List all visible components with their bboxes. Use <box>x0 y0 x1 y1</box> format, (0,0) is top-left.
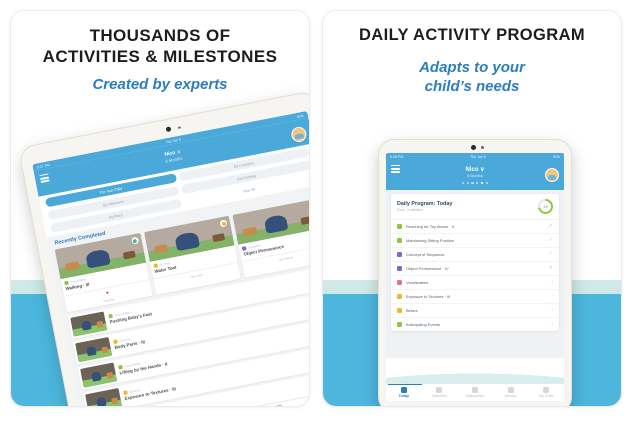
chevron-right-icon: › <box>551 308 553 313</box>
program-row-label: Reaching for Toy Above · II <box>406 224 545 229</box>
articles-icon <box>276 404 283 407</box>
tab-articles[interactable]: Articles <box>493 384 529 401</box>
activities-icon <box>436 387 442 393</box>
tablet-screen-left: 3:27 PM Thu Jan 9 85% Nico ∨ 6 Months <box>32 111 310 407</box>
check-icon: ✓ <box>549 252 553 257</box>
left-card-headings: THOUSANDS OF ACTIVITIES & MILESTONES Cre… <box>11 25 309 94</box>
right-subheading-line2: child’s needs <box>323 77 621 96</box>
camera-icon <box>471 145 476 150</box>
right-heading-line1: DAILY ACTIVITY PROGRAM <box>323 25 621 46</box>
leaf-icon <box>397 238 402 243</box>
camera-icon <box>166 126 172 132</box>
status-battery: 90% <box>553 155 560 159</box>
child-name-selector[interactable]: Nico ∨ <box>386 160 564 173</box>
program-row-label: Exposure to Textures · III <box>406 294 547 299</box>
today-icon <box>401 387 407 393</box>
tab-label: My Child <box>307 396 310 407</box>
promo-card-thousands: THOUSANDS OF ACTIVITIES & MILESTONES Cre… <box>10 10 310 407</box>
check-icon: ✓ <box>549 266 553 271</box>
status-battery: 85% <box>296 113 304 118</box>
child-name: Nico <box>465 167 478 173</box>
brain-icon <box>397 252 402 257</box>
chevron-right-icon: › <box>551 280 553 285</box>
hamburger-menu-icon[interactable] <box>39 173 50 184</box>
tablet-screen-right: 9:28 PM Thu Jan 9 90% Nico ∨ 6 Months <box>386 153 564 401</box>
favorite-label: The Official <box>278 255 294 262</box>
list-thumbnail <box>75 336 112 361</box>
list-thumbnail <box>70 311 107 336</box>
category-icon <box>153 263 158 268</box>
program-row-label: Concept of Sequence <box>406 252 545 257</box>
left-heading-line1: THOUSANDS OF <box>11 25 309 46</box>
status-time: 9:28 PM <box>390 155 403 159</box>
hand-icon <box>397 294 402 299</box>
left-subheading: Created by experts <box>11 75 309 94</box>
promo-card-daily-program: DAILY ACTIVITY PROGRAM Adapts to your ch… <box>322 10 622 407</box>
panel-subtitle: Done: 3 activities <box>397 208 452 212</box>
tab-label: My Child <box>528 394 564 398</box>
program-row-label: Anticipating Events <box>406 322 547 327</box>
page-dots[interactable] <box>386 182 564 185</box>
tab-today[interactable]: Today <box>386 384 422 401</box>
program-row-label: Object Permanence · IV <box>406 266 545 271</box>
hamburger-menu-icon[interactable] <box>391 165 400 175</box>
sensor-icon <box>481 146 484 149</box>
program-row[interactable]: Reaching for Toy Above · II ✓ <box>391 219 559 233</box>
sensor-icon <box>178 126 181 129</box>
favorite-label: Favorite <box>103 297 114 303</box>
tab-milestones[interactable]: Milestones <box>457 384 493 401</box>
program-row-label: Before <box>406 308 547 313</box>
chevron-right-icon: › <box>551 322 553 327</box>
milestones-icon <box>472 387 478 393</box>
my-child-icon <box>543 387 549 393</box>
heart-icon[interactable]: ♥ <box>106 291 110 296</box>
active-tab-underline <box>388 384 422 385</box>
tab-my-child[interactable]: My Child <box>528 384 564 401</box>
check-icon: ✓ <box>549 238 553 243</box>
category-icon <box>64 280 69 285</box>
program-row[interactable]: Vocalizables › <box>391 275 559 289</box>
tab-activities[interactable]: Activities <box>422 384 458 401</box>
right-subheading-line1: Adapts to your <box>323 58 621 77</box>
tab-label: Articles <box>252 406 308 407</box>
app-header-right: Nico ∨ 6 Months <box>386 160 564 190</box>
articles-icon <box>508 387 514 393</box>
status-bar: 9:28 PM Thu Jan 9 90% <box>386 153 564 160</box>
brain-icon <box>397 266 402 271</box>
avatar[interactable] <box>545 168 559 182</box>
program-row[interactable]: Object Permanence · IV ✓ <box>391 261 559 275</box>
tab-label: Milestones <box>457 394 493 398</box>
chevron-down-icon: ∨ <box>480 167 484 173</box>
tab-label: Activities <box>422 394 458 398</box>
progress-label: 3/8 <box>540 201 551 212</box>
list-thumbnail <box>85 388 122 407</box>
right-card-headings: DAILY ACTIVITY PROGRAM Adapts to your ch… <box>323 25 621 96</box>
tablet-device-left: 3:27 PM Thu Jan 9 85% Nico ∨ 6 Months <box>18 90 310 407</box>
progress-ring: 3/8 <box>538 199 553 214</box>
panel-header: Daily Program: Today Done: 3 activities … <box>391 194 559 219</box>
speech-icon <box>397 280 402 285</box>
program-row[interactable]: Exposure to Textures · III › <box>391 289 559 303</box>
program-row[interactable]: Concept of Sequence ✓ <box>391 247 559 261</box>
program-row[interactable]: Before › <box>391 303 559 317</box>
chevron-right-icon: › <box>551 294 553 299</box>
leaf-icon <box>397 224 402 229</box>
tablet-device-right: 9:28 PM Thu Jan 9 90% Nico ∨ 6 Months <box>378 139 572 407</box>
left-heading-line2: ACTIVITIES & MILESTONES <box>11 46 309 67</box>
decorative-wave <box>386 358 564 384</box>
app-body-left: 3:27 PM Thu Jan 9 85% Nico ∨ 6 Months <box>32 111 310 407</box>
app-body-right: 9:28 PM Thu Jan 9 90% Nico ∨ 6 Months <box>386 153 564 401</box>
category-icon <box>242 246 247 251</box>
leaf-icon <box>397 322 402 327</box>
panel-title: Daily Program: Today <box>397 201 452 207</box>
child-age: 6 Months <box>386 174 564 178</box>
list-thumbnail <box>80 362 117 387</box>
bottom-tab-bar-right: Today Activities Milestones Article <box>386 383 564 401</box>
program-row[interactable]: Maintaining Sitting Position ✓ <box>391 233 559 247</box>
status-date: Thu Jan 9 <box>470 155 486 159</box>
hand-icon <box>397 308 402 313</box>
program-row[interactable]: Anticipating Events › <box>391 317 559 331</box>
daily-program-panel: Daily Program: Today Done: 3 activities … <box>391 194 559 331</box>
tab-label: Today <box>386 394 422 398</box>
screenshot-canvas: THOUSANDS OF ACTIVITIES & MILESTONES Cre… <box>0 0 640 424</box>
chevron-down-icon: ∨ <box>177 149 182 156</box>
program-row-label: Maintaining Sitting Position <box>406 238 545 243</box>
program-row-label: Vocalizables <box>406 280 547 285</box>
favorite-label: The Zone <box>190 272 203 278</box>
tab-label: Articles <box>493 394 529 398</box>
check-icon: ✓ <box>549 224 553 229</box>
